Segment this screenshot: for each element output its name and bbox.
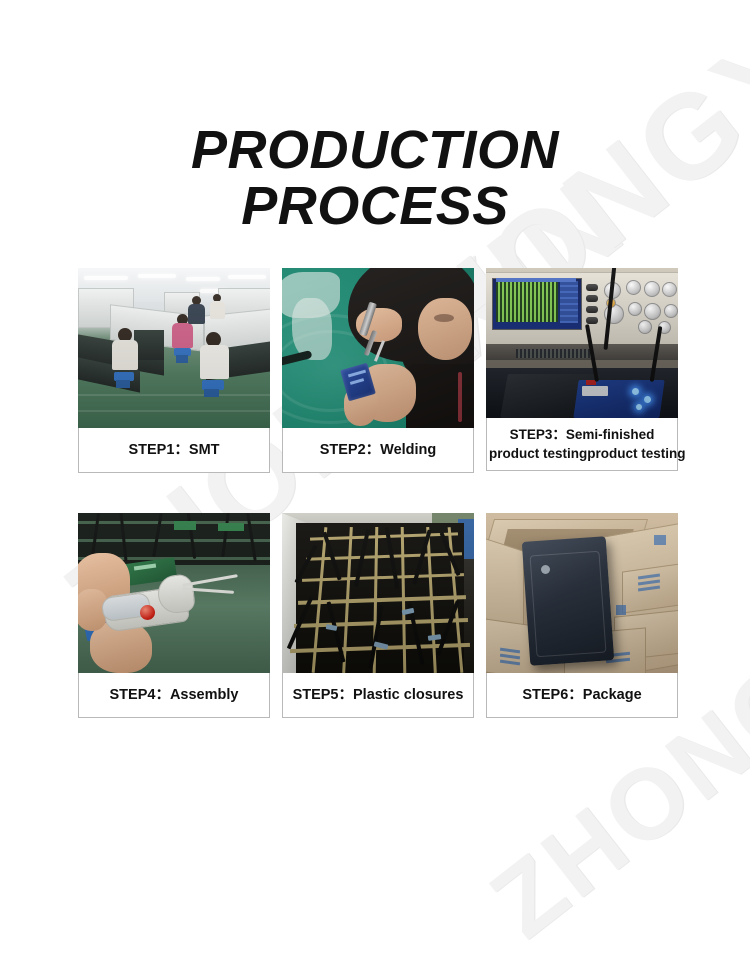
step-caption-line-1: STEP6：Package bbox=[491, 686, 673, 705]
process-step-row-2: STEP4：Assembly bbox=[78, 513, 678, 718]
step-caption-step5: STEP5：Plastic closures bbox=[282, 673, 474, 718]
step-caption-line-1: STEP5：Plastic closures bbox=[287, 686, 469, 705]
step-card-step5[interactable]: STEP5：Plastic closures bbox=[282, 513, 474, 718]
step-card-step4[interactable]: STEP4：Assembly bbox=[78, 513, 270, 718]
step-caption-line-2: product testingproduct testing bbox=[489, 444, 675, 463]
page-title-line-1: PRODUCTION bbox=[0, 122, 750, 178]
step-caption-line-1: STEP2：Welding bbox=[287, 441, 469, 460]
process-step-grid: STEP1：SMT bbox=[78, 268, 678, 718]
step-photo-step1 bbox=[78, 268, 270, 428]
step-caption-step2: STEP2：Welding bbox=[282, 428, 474, 473]
step-card-step2[interactable]: STEP2：Welding bbox=[282, 268, 474, 473]
step-caption-line-1: STEP4：Assembly bbox=[83, 686, 265, 705]
step-caption-step1: STEP1：SMT bbox=[78, 428, 270, 473]
step-caption-step3: STEP3：Semi-finished product testingprodu… bbox=[486, 418, 678, 471]
page-title: PRODUCTION PROCESS bbox=[0, 122, 750, 234]
step-card-step3[interactable]: STEP3：Semi-finished product testingprodu… bbox=[486, 268, 678, 471]
step-photo-step5 bbox=[282, 513, 474, 673]
step-photo-step6 bbox=[486, 513, 678, 673]
step-caption-line-1: STEP1：SMT bbox=[83, 441, 265, 460]
step-card-step6[interactable]: STEP6：Package bbox=[486, 513, 678, 718]
step-card-step1[interactable]: STEP1：SMT bbox=[78, 268, 270, 473]
step-caption-step6: STEP6：Package bbox=[486, 673, 678, 718]
page-title-line-2: PROCESS bbox=[0, 178, 750, 234]
step-caption-step4: STEP4：Assembly bbox=[78, 673, 270, 718]
step-photo-step4 bbox=[78, 513, 270, 673]
step-photo-step3 bbox=[486, 268, 678, 418]
process-step-row-1: STEP1：SMT bbox=[78, 268, 678, 473]
step-caption-line-1: STEP3：Semi-finished bbox=[489, 425, 675, 444]
step-photo-step2 bbox=[282, 268, 474, 428]
